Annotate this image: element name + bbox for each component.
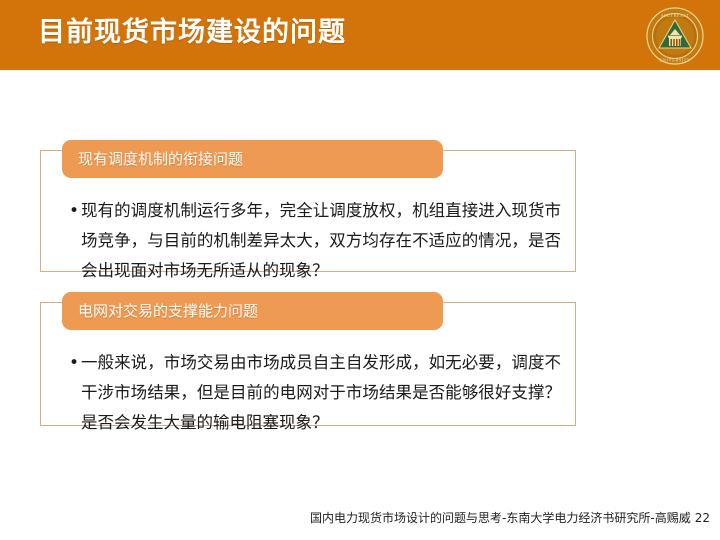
- section-1-header-badge: 现有调度机制的衔接问题: [62, 140, 443, 178]
- section-2-header-badge: 电网对交易的支撑能力问题: [62, 292, 443, 330]
- svg-text:SOUTHEAST: SOUTHEAST: [661, 13, 689, 18]
- section-2-bullet: • 一般来说，市场交易由市场成员自主自发形成，如无必要，调度不干涉市场结果，但是…: [69, 348, 561, 438]
- svg-text:UNIVERSITY: UNIVERSITY: [659, 58, 690, 63]
- section-1-bullet-text: 现有的调度机制运行多年，完全让调度放权，机组直接进入现货市场竞争，与目前的机制差…: [81, 196, 561, 286]
- page-title: 目前现货市场建设的问题: [38, 11, 346, 55]
- southeast-university-seal-icon: SOUTHEAST UNIVERSITY: [644, 6, 706, 66]
- bullet-marker-icon: •: [69, 348, 81, 378]
- section-2-header-label: 电网对交易的支撑能力问题: [78, 301, 258, 321]
- footer-text: 国内电力现货市场设计的问题与思考-东南大学电力经济书研究所-高赐威: [310, 511, 691, 525]
- slide-footer: 国内电力现货市场设计的问题与思考-东南大学电力经济书研究所-高赐威22: [0, 509, 710, 526]
- slide-title-bar: 目前现货市场建设的问题: [0, 0, 720, 70]
- section-1-header-label: 现有调度机制的衔接问题: [78, 149, 243, 169]
- bullet-marker-icon: •: [69, 196, 81, 226]
- section-1-bullet: • 现有的调度机制运行多年，完全让调度放权，机组直接进入现货市场竞争，与目前的机…: [69, 196, 561, 286]
- section-2-bullet-text: 一般来说，市场交易由市场成员自主自发形成，如无必要，调度不干涉市场结果，但是目前…: [81, 348, 561, 438]
- page-number: 22: [695, 511, 710, 525]
